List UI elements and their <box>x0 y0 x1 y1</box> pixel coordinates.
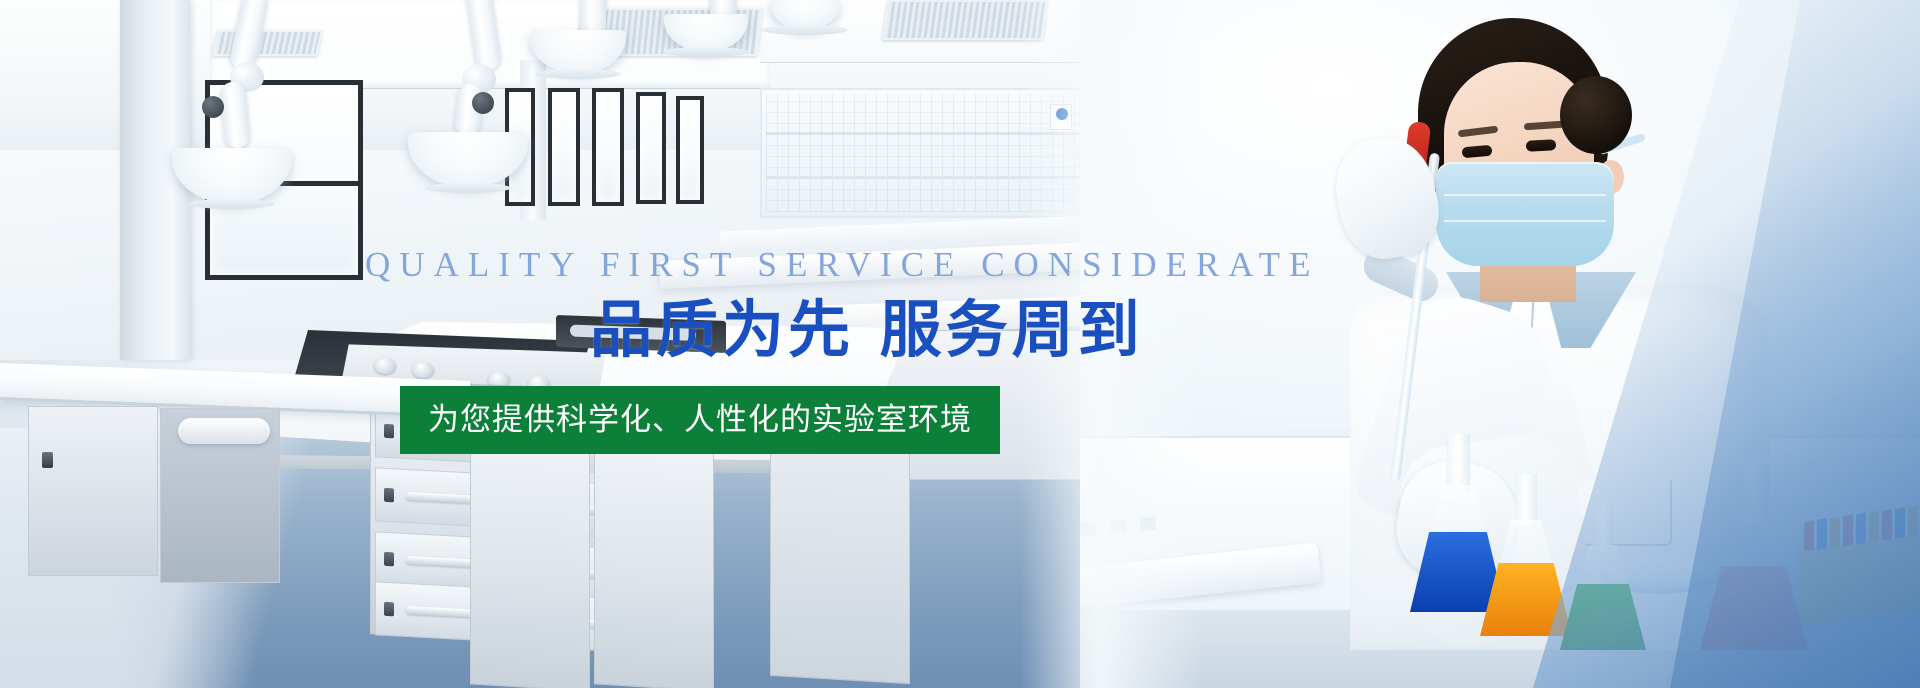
cabinet-pull-handle <box>178 418 270 444</box>
extraction-knob <box>202 96 224 118</box>
lower-cabinet-bank <box>470 392 910 688</box>
drawer-lock-icon <box>384 552 394 567</box>
hero-banner: QUALITY FIRST SERVICE CONSIDERATE 品质为先 服… <box>0 0 1920 688</box>
service-knob <box>412 362 434 378</box>
service-knob <box>374 358 396 374</box>
flask-neck <box>1446 430 1469 492</box>
window <box>592 88 624 206</box>
eye <box>1526 139 1557 152</box>
cabinet-panel <box>594 416 714 688</box>
cabinet-lock-icon <box>42 452 53 468</box>
wall-shelving-unit <box>760 88 1090 218</box>
ceiling-vent <box>882 0 1048 40</box>
window <box>548 88 580 206</box>
extraction-hood <box>770 0 840 30</box>
scientist-scene <box>1080 0 1920 688</box>
flask-lip <box>1510 466 1541 474</box>
ceiling-vent <box>212 30 323 56</box>
hair-bun <box>1560 76 1632 154</box>
shelf-label-icon <box>1050 104 1072 130</box>
cabinet-panel <box>470 406 590 688</box>
shelf-mesh <box>766 94 1084 212</box>
bench-cabinet <box>28 406 158 576</box>
drawer-lock-icon <box>384 488 394 503</box>
extraction-knob <box>472 92 494 114</box>
cabinet-panel <box>770 436 910 684</box>
flask-neck <box>1515 470 1537 526</box>
drawer-lock-icon <box>384 602 394 617</box>
drawer-lock-icon <box>384 424 394 439</box>
window <box>636 92 666 204</box>
surgical-mask <box>1436 162 1614 266</box>
bench-black-fitting <box>556 315 726 353</box>
flask-lip <box>1442 426 1475 434</box>
service-knob <box>528 376 550 392</box>
window <box>676 96 704 204</box>
